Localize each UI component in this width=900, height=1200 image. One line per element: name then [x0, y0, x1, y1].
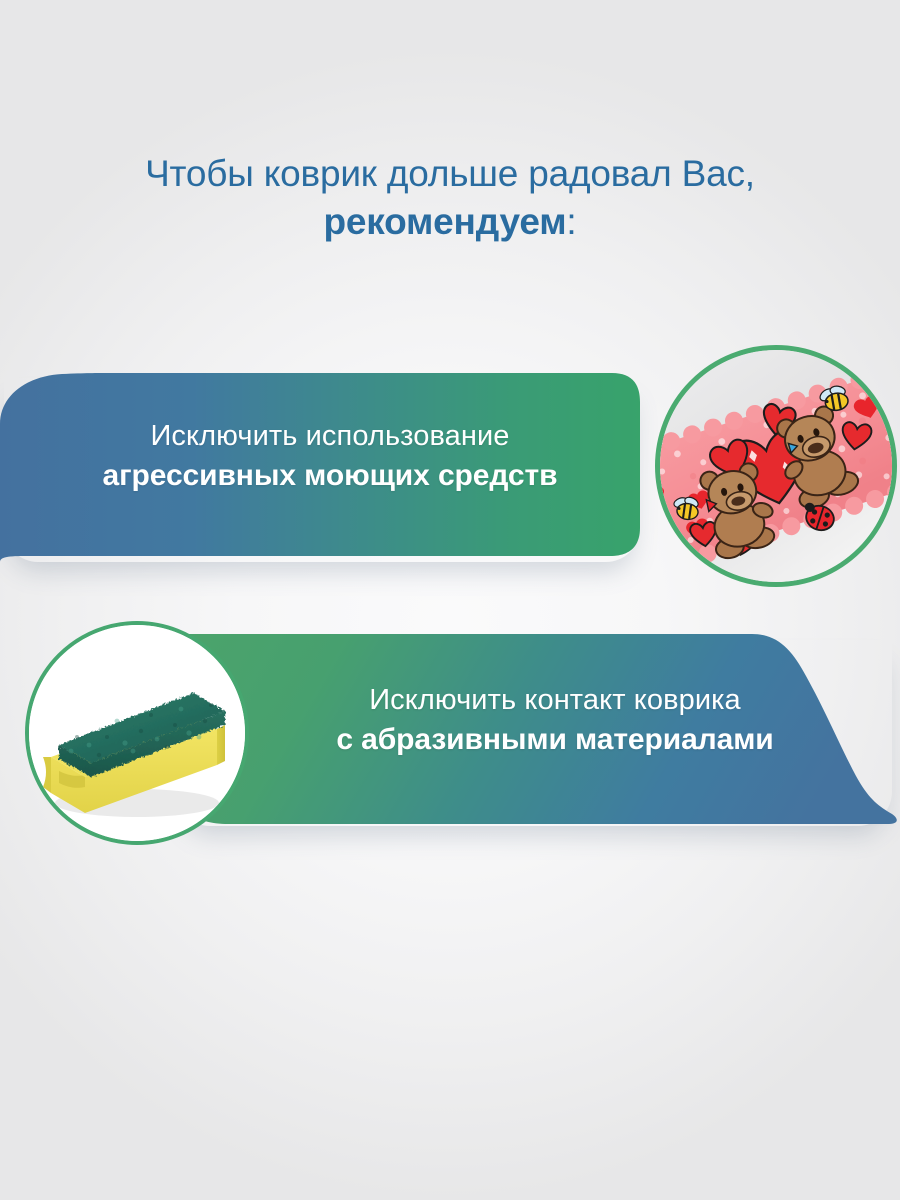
- title-colon: :: [566, 201, 576, 242]
- banner-1-shape: [0, 366, 646, 562]
- infographic-page: Чтобы коврик дольше радовал Вас, рекомен…: [0, 0, 900, 1200]
- cleaning-sponge-photo: [25, 621, 249, 845]
- banner-aggressive-detergents: [0, 366, 646, 562]
- title-line-2: рекомендуем:: [0, 198, 900, 246]
- banner-abrasive-materials: [166, 628, 900, 832]
- title-line-1: Чтобы коврик дольше радовал Вас,: [0, 150, 900, 198]
- title-emphasis: рекомендуем: [323, 201, 566, 242]
- sponge-illustration: [29, 625, 245, 841]
- page-title: Чтобы коврик дольше радовал Вас, рекомен…: [0, 150, 900, 246]
- bath-mat-teddy-bears-photo: [655, 345, 897, 587]
- banner-2-shape: [166, 628, 900, 832]
- bath-mat-illustration: [660, 350, 892, 582]
